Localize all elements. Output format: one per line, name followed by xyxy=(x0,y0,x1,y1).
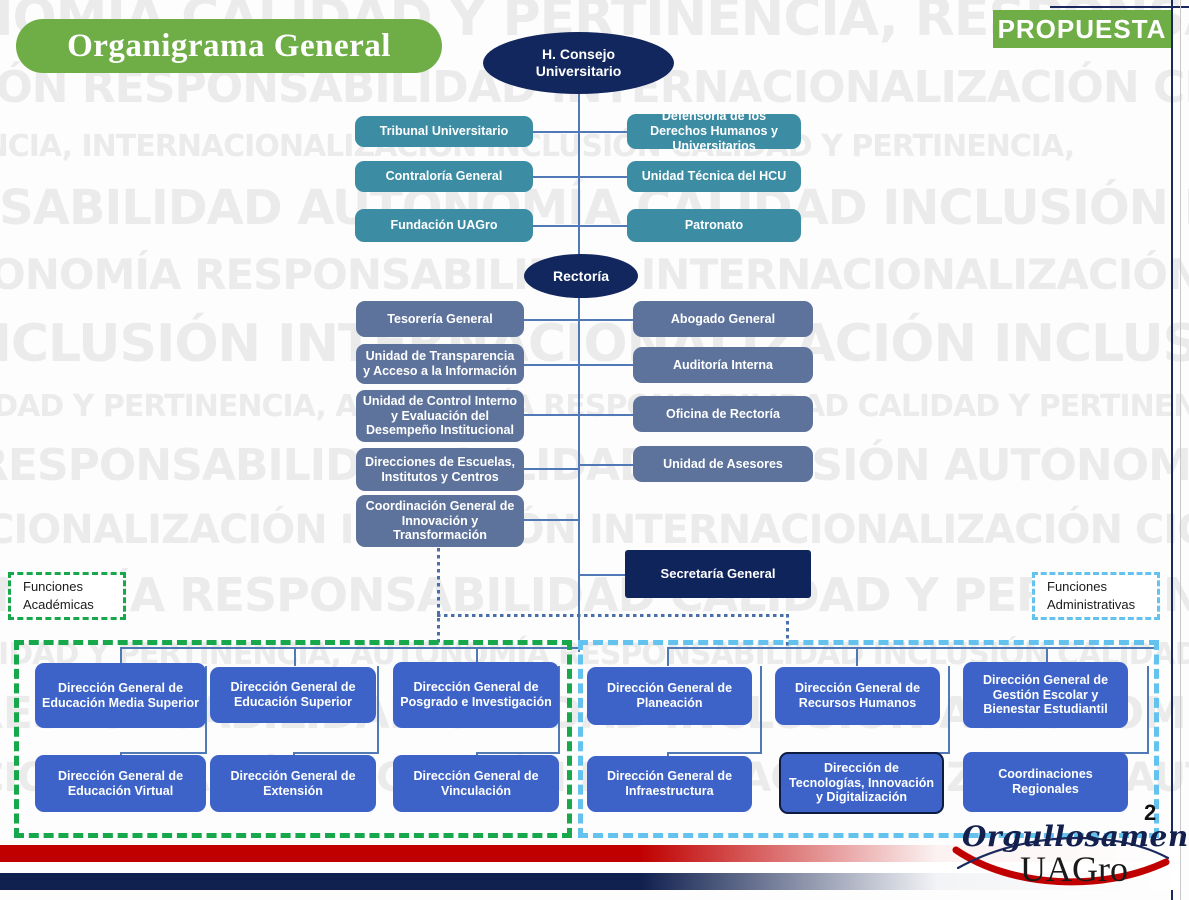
dotted-bus-horizontal xyxy=(437,614,787,617)
node-dg-educacion-media-superior-label: Dirección General de Educación Media Sup… xyxy=(42,681,199,711)
node-tribunal-universitario-label: Tribunal Universitario xyxy=(380,124,509,139)
connector-rect-right-2 xyxy=(579,364,633,366)
node-consejo-universitario[interactable]: H. Consejo Universitario xyxy=(483,32,674,94)
node-unidad-transparencia[interactable]: Unidad de Transparencia y Acceso a la In… xyxy=(356,344,524,384)
legend-administrative-label: Funciones Administrativas xyxy=(1047,578,1157,613)
connector-rect-right-3 xyxy=(579,414,633,416)
frame-top-line xyxy=(1050,6,1172,8)
node-defensoria-derechos-humanos[interactable]: Defensoría de los Derechos Humanos y Uni… xyxy=(627,114,801,149)
node-contraloria-general[interactable]: Contraloría General xyxy=(355,161,533,192)
node-unidad-tecnica-hcu[interactable]: Unidad Técnica del HCU xyxy=(627,161,801,192)
watermark-row: CIONALIZACIÓN INCLUSIÓN INTERNACIONALIZA… xyxy=(0,510,1189,550)
node-fundacion-uagro-label: Fundación UAGro xyxy=(391,218,498,233)
frame-right-line xyxy=(1171,0,1173,900)
node-rectoria-label: Rectoría xyxy=(553,268,609,285)
node-abogado-general[interactable]: Abogado General xyxy=(633,301,813,337)
logo-name-text: UAGro xyxy=(1020,848,1128,890)
connector-rect-left-5 xyxy=(524,519,579,521)
node-dg-educacion-superior[interactable]: Dirección General de Educación Superior xyxy=(210,667,376,723)
node-unidad-tecnica-hcu-label: Unidad Técnica del HCU xyxy=(642,169,786,184)
node-unidad-control-interno[interactable]: Unidad de Control Interno y Evaluación d… xyxy=(356,390,524,442)
connector-hcu-left-2 xyxy=(532,176,579,178)
connector-hcu-right-1 xyxy=(579,131,628,133)
status-badge: PROPUESTA xyxy=(993,10,1171,48)
status-badge-text: PROPUESTA xyxy=(998,14,1167,45)
node-dg-educacion-media-superior[interactable]: Dirección General de Educación Media Sup… xyxy=(35,663,206,728)
node-direcciones-escuelas[interactable]: Direcciones de Escuelas, Institutos y Ce… xyxy=(356,448,524,491)
node-dg-planeacion[interactable]: Dirección General de Planeación xyxy=(587,667,752,725)
connector-rect-left-3 xyxy=(524,414,579,416)
node-contraloria-general-label: Contraloría General xyxy=(386,169,503,184)
node-unidad-asesores-label: Unidad de Asesores xyxy=(663,457,783,472)
node-unidad-control-interno-label: Unidad de Control Interno y Evaluación d… xyxy=(362,394,518,438)
watermark-row: RESPONSABILIDAD CALIDAD INCLUSIÓN AUTONO… xyxy=(0,444,1189,488)
node-tribunal-universitario[interactable]: Tribunal Universitario xyxy=(355,116,533,147)
node-dg-infraestructura-label: Dirección General de Infraestructura xyxy=(594,769,745,799)
node-dg-recursos-humanos-label: Dirección General de Recursos Humanos xyxy=(782,681,933,711)
connector-hcu-right-2 xyxy=(579,176,628,178)
connector-rect-left-1 xyxy=(524,319,579,321)
node-dg-infraestructura[interactable]: Dirección General de Infraestructura xyxy=(587,756,752,812)
watermark-row: LIDAD Y PERTINENCIA, AUTONOMÍA RESPONSAB… xyxy=(0,392,1189,422)
node-secretaria-general[interactable]: Secretaría General xyxy=(625,550,811,598)
node-dg-educacion-superior-label: Dirección General de Educación Superior xyxy=(217,680,369,710)
connector-hcu-left-1 xyxy=(532,131,579,133)
node-dg-gestion-escolar[interactable]: Dirección General de Gestión Escolar y B… xyxy=(963,662,1128,728)
node-auditoria-interna[interactable]: Auditoría Interna xyxy=(633,347,813,383)
node-direcciones-escuelas-label: Direcciones de Escuelas, Institutos y Ce… xyxy=(362,455,518,485)
node-direccion-tecnologias[interactable]: Dirección de Tecnologías, Innovación y D… xyxy=(779,752,944,814)
node-auditoria-interna-label: Auditoría Interna xyxy=(673,358,773,373)
connector-rect-right-4 xyxy=(579,464,633,466)
node-abogado-general-label: Abogado General xyxy=(671,312,775,327)
node-coordinacion-innovacion[interactable]: Coordinación General de Innovación y Tra… xyxy=(356,495,524,547)
node-dg-extension-label: Dirección General de Extensión xyxy=(217,769,369,799)
node-tesoreria-general-label: Tesorería General xyxy=(387,312,492,327)
node-unidad-transparencia-label: Unidad de Transparencia y Acceso a la In… xyxy=(362,349,518,379)
node-oficina-rectoria-label: Oficina de Rectoría xyxy=(666,407,780,422)
connector-rect-left-4 xyxy=(524,468,579,470)
watermark-row: NENCIA, INTERNACIONALIZACIÓN INCLUSIÓN C… xyxy=(0,132,1074,162)
node-coordinaciones-regionales[interactable]: Coordinaciones Regionales xyxy=(963,752,1128,812)
connector-rect-right-1 xyxy=(579,319,633,321)
node-dg-extension[interactable]: Dirección General de Extensión xyxy=(210,755,376,812)
node-defensoria-derechos-humanos-label: Defensoría de los Derechos Humanos y Uni… xyxy=(635,109,793,153)
node-tesoreria-general[interactable]: Tesorería General xyxy=(356,301,524,337)
node-rectoria[interactable]: Rectoría xyxy=(524,254,638,298)
node-dg-educacion-virtual[interactable]: Dirección General de Educación Virtual xyxy=(35,755,206,812)
connector-secretaria xyxy=(579,574,625,576)
node-consejo-universitario-label: H. Consejo Universitario xyxy=(501,46,656,79)
node-dg-posgrado-investigacion[interactable]: Dirección General de Posgrado e Investig… xyxy=(393,662,559,728)
node-dg-posgrado-investigacion-label: Dirección General de Posgrado e Investig… xyxy=(400,680,552,710)
node-dg-vinculacion-label: Dirección General de Vinculación xyxy=(400,769,552,799)
node-dg-educacion-virtual-label: Dirección General de Educación Virtual xyxy=(42,769,199,799)
node-dg-gestion-escolar-label: Dirección General de Gestión Escolar y B… xyxy=(970,673,1121,717)
node-coordinaciones-regionales-label: Coordinaciones Regionales xyxy=(970,767,1121,797)
node-unidad-asesores[interactable]: Unidad de Asesores xyxy=(633,446,813,482)
node-patronato-label: Patronato xyxy=(685,218,743,233)
slide-canvas: NOMÍA CALIDAD Y PERTINENCIA, RESPONSABIL… xyxy=(0,0,1189,900)
node-dg-vinculacion[interactable]: Dirección General de Vinculación xyxy=(393,755,559,812)
page-title: Organigrama General xyxy=(16,19,442,73)
connector-rect-left-2 xyxy=(524,364,579,366)
node-secretaria-general-label: Secretaría General xyxy=(661,566,776,581)
uagro-logo: Orgullosamente UAGro xyxy=(952,822,1174,894)
node-patronato[interactable]: Patronato xyxy=(627,209,801,242)
watermark-row: INCLUSIÓN INTERNACIONALIZACIÓN INCLUSIÓN… xyxy=(0,318,1189,370)
connector-hcu-left-3 xyxy=(532,225,579,227)
node-direccion-tecnologias-label: Dirección de Tecnologías, Innovación y D… xyxy=(788,761,935,805)
node-coordinacion-innovacion-label: Coordinación General de Innovación y Tra… xyxy=(362,499,518,543)
dotted-connector-innovacion xyxy=(437,548,440,646)
node-dg-planeacion-label: Dirección General de Planeación xyxy=(594,681,745,711)
node-dg-recursos-humanos[interactable]: Dirección General de Recursos Humanos xyxy=(775,667,940,725)
legend-administrative: Funciones Administrativas xyxy=(1032,572,1160,620)
watermark-row: ONOMÍA RESPONSABILIDAD CALIDAD Y PERTINE… xyxy=(0,572,1189,618)
frame-right-hairline xyxy=(1180,0,1181,900)
node-fundacion-uagro[interactable]: Fundación UAGro xyxy=(355,209,533,242)
node-oficina-rectoria[interactable]: Oficina de Rectoría xyxy=(633,396,813,432)
legend-academic: Funciones Académicas xyxy=(8,572,126,620)
connector-hcu-right-3 xyxy=(579,225,628,227)
page-title-text: Organigrama General xyxy=(67,28,391,65)
legend-academic-label: Funciones Académicas xyxy=(23,578,123,613)
